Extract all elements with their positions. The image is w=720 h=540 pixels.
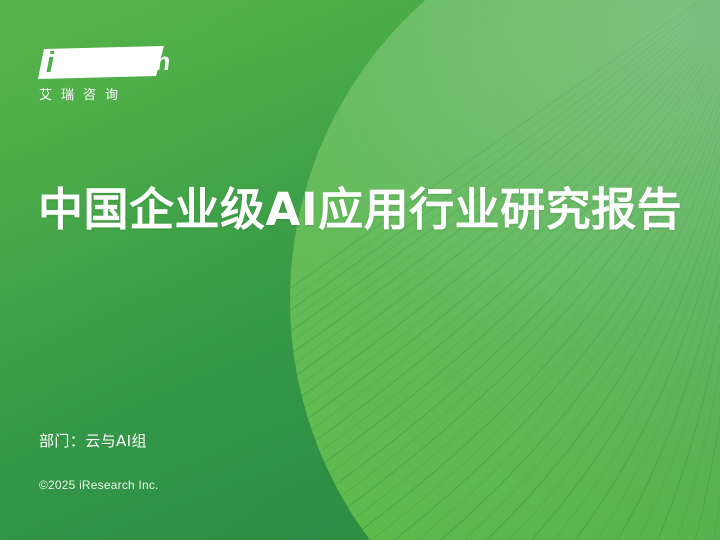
logo-chinese-name: 艾瑞咨询 xyxy=(39,84,127,103)
page-title: 中国企业级AI应用行业研究报告 xyxy=(38,183,682,236)
logo-i-mark: i xyxy=(46,49,53,78)
logo-wordmark: Research xyxy=(60,50,171,75)
department-label: 部门：云与AI组 xyxy=(39,430,147,451)
copyright-label: ©2025 iResearch Inc. xyxy=(39,478,159,492)
iresearch-logo: i Research 艾瑞咨询 xyxy=(36,46,166,112)
report-cover-slide: i Research 艾瑞咨询 中国企业级AI应用行业研究报告 部门：云与AI组… xyxy=(0,0,720,540)
